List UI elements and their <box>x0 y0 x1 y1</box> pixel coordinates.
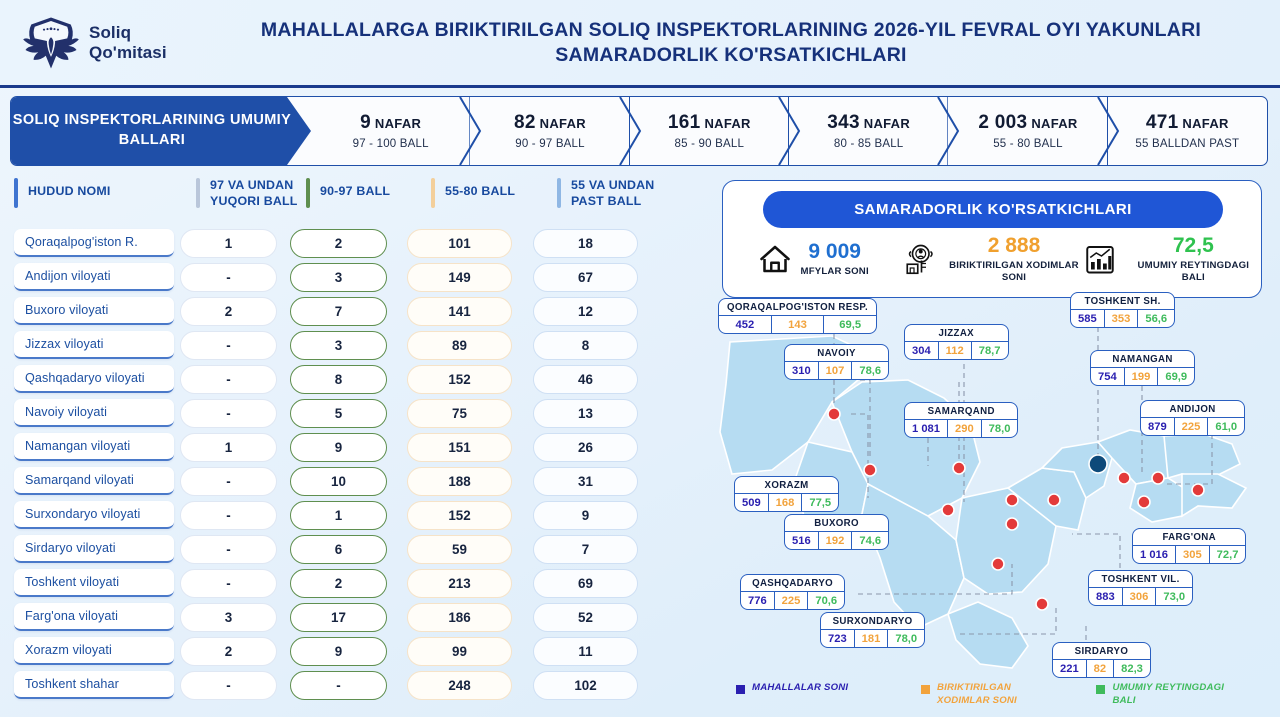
region-name-chip[interactable]: Toshkent viloyati <box>14 569 174 597</box>
page-title: MAHALLALARGA BIRIKTIRILGAN SOLIQ INSPEKT… <box>212 18 1280 68</box>
region-name-chip[interactable]: Farg'ona viloyati <box>14 603 174 631</box>
table-cell-above97: - <box>180 671 277 700</box>
table-cell-b55_80: 248 <box>407 671 512 700</box>
legend-label: MAHALLALAR SONI <box>752 682 848 695</box>
kpi-text: 2 888BIRIKTIRILGAN XODIMLAR SONI <box>946 235 1081 284</box>
inspector-icon <box>902 241 938 277</box>
table-cell-below55: 52 <box>533 603 638 632</box>
map-value-ball: 72,7 <box>1209 546 1246 563</box>
table-row[interactable]: Surxondaryo viloyati-11529 <box>14 498 704 532</box>
table-cell-below55: 13 <box>533 399 638 428</box>
map-value-mahalla: 1 016 <box>1133 546 1175 563</box>
table-cell-above97: 1 <box>180 433 277 462</box>
map-label-name: NAVOIY <box>785 345 888 362</box>
table-cell-below55: 69 <box>533 569 638 598</box>
map-label-toshkent-sh-[interactable]: TOSHKENT SH.58535356,6 <box>1070 292 1175 328</box>
score-segment-4: 2 003 NAFAR55 - 80 BALL <box>948 97 1107 165</box>
column-accent-bar <box>431 178 435 208</box>
region-name-chip[interactable]: Surxondaryo viloyati <box>14 501 174 529</box>
table-cell-below55: 11 <box>533 637 638 666</box>
table-cell-b55_80: 152 <box>407 501 512 530</box>
map-label-values: 50916877,5 <box>735 494 838 511</box>
barchart-icon <box>1082 241 1118 277</box>
map-value-mahalla: 304 <box>905 342 938 359</box>
map-value-ball: 70,6 <box>807 592 844 609</box>
table-row[interactable]: Toshkent shahar--248102 <box>14 668 704 702</box>
table-cell-b55_80: 213 <box>407 569 512 598</box>
map-value-ball: 56,6 <box>1137 310 1174 327</box>
segment-unit: NAFAR <box>375 116 421 131</box>
map-value-ball: 69,5 <box>823 316 876 333</box>
segment-range: 55 BALLDAN PAST <box>1135 138 1239 150</box>
map-value-mahalla: 723 <box>821 630 854 647</box>
table-cell-b90_97: 8 <box>290 365 387 394</box>
column-accent-bar <box>557 178 561 208</box>
table-cell-above97: - <box>180 569 277 598</box>
map-value-mahalla: 754 <box>1091 368 1124 385</box>
map-label-qashqadaryo[interactable]: QASHQADARYO77622570,6 <box>740 574 845 610</box>
map-value-ball: 69,9 <box>1157 368 1194 385</box>
table-cell-b55_80: 101 <box>407 229 512 258</box>
table-cell-below55: 9 <box>533 501 638 530</box>
table-cell-b90_97: 2 <box>290 229 387 258</box>
map-label-values: 51619274,6 <box>785 532 888 549</box>
map-label-name: ANDIJON <box>1141 401 1244 418</box>
map-value-xodim: 82 <box>1086 660 1113 677</box>
uzbekistan-map: QORAQALPOG'ISTON RESP.45214369,5NAVOIY31… <box>712 302 1272 717</box>
segment-count-value: 2 003 <box>978 112 1027 133</box>
column-header-label: 97 VA UNDAN YUQORI BALL <box>210 178 306 209</box>
map-value-xodim: 225 <box>1174 418 1208 435</box>
segment-unit: NAFAR <box>1031 116 1077 131</box>
table-body: Qoraqalpog'iston R.1210118Andijon viloya… <box>14 226 704 702</box>
legend-item-2: UMUMIY REYTINGDAGI BALI <box>1096 682 1272 708</box>
legend-item-1: BIRIKTIRILGAN XODIMLAR SONI <box>921 682 1097 708</box>
map-value-mahalla: 452 <box>719 316 771 333</box>
map-label-andijon[interactable]: ANDIJON87922561,0 <box>1140 400 1245 436</box>
map-label-name: NAMANGAN <box>1091 351 1194 368</box>
brand-logo: Soliq Qo'mitasi <box>22 14 212 72</box>
kpi-value: 2 888 <box>946 235 1081 256</box>
score-bar-segments: 9 NAFAR97 - 100 BALL82 NAFAR90 - 97 BALL… <box>311 97 1267 165</box>
map-value-xodim: 143 <box>771 316 824 333</box>
segment-count-value: 471 <box>1146 112 1179 133</box>
score-segment-2: 161 NAFAR85 - 90 BALL <box>630 97 789 165</box>
table-cell-below55: 26 <box>533 433 638 462</box>
map-label-values: 1 01630572,7 <box>1133 546 1245 563</box>
map-label-jizzax[interactable]: JIZZAX30411278,7 <box>904 324 1009 360</box>
map-value-mahalla: 509 <box>735 494 768 511</box>
map-value-mahalla: 516 <box>785 532 818 549</box>
map-value-xodim: 192 <box>818 532 852 549</box>
map-value-xodim: 181 <box>854 630 888 647</box>
map-value-mahalla: 310 <box>785 362 818 379</box>
kpi-label: BIRIKTIRILGAN XODIMLAR SONI <box>946 260 1081 284</box>
segment-count-value: 161 <box>668 112 701 133</box>
map-label-name: TOSHKENT SH. <box>1071 293 1174 310</box>
column-header-0: HUDUD NOMI <box>14 178 196 208</box>
table-row[interactable]: Toshkent viloyati-221369 <box>14 566 704 600</box>
column-header-2: 90-97 BALL <box>306 178 431 208</box>
table-cell-below55: 8 <box>533 331 638 360</box>
table-cell-above97: - <box>180 399 277 428</box>
kpi-items: 9 009MFYLAR SONI2 888BIRIKTIRILGAN XODIM… <box>723 235 1261 284</box>
table-cell-b55_80: 188 <box>407 467 512 496</box>
table-cell-b55_80: 152 <box>407 365 512 394</box>
map-value-xodim: 107 <box>818 362 852 379</box>
map-value-mahalla: 879 <box>1141 418 1174 435</box>
brand-line-1: Soliq <box>89 23 167 42</box>
map-value-xodim: 225 <box>774 592 808 609</box>
table-cell-b90_97: 3 <box>290 263 387 292</box>
map-value-ball: 77,5 <box>801 494 838 511</box>
segment-unit: NAFAR <box>704 116 750 131</box>
table-cell-b55_80: 75 <box>407 399 512 428</box>
segment-count: 9 NAFAR <box>360 112 421 134</box>
segment-count-value: 82 <box>514 112 536 133</box>
segment-count: 161 NAFAR <box>668 112 751 134</box>
map-label-values: 87922561,0 <box>1141 418 1244 435</box>
map-label-samarqand[interactable]: SAMARQAND1 08129078,0 <box>904 402 1018 438</box>
table-cell-above97: - <box>180 365 277 394</box>
segment-range: 97 - 100 BALL <box>353 138 429 150</box>
map-value-xodim: 353 <box>1104 310 1138 327</box>
map-value-xodim: 305 <box>1175 546 1209 563</box>
segment-count-value: 9 <box>360 112 371 133</box>
map-value-xodim: 199 <box>1124 368 1158 385</box>
segment-unit: NAFAR <box>864 116 910 131</box>
kpi-label: MFYLAR SONI <box>801 266 869 278</box>
region-name-chip[interactable]: Xorazm viloyati <box>14 637 174 665</box>
table-row[interactable]: Xorazm viloyati299911 <box>14 634 704 668</box>
map-legend: MAHALLALAR SONIBIRIKTIRILGAN XODIMLAR SO… <box>724 682 1272 708</box>
kpi-item-1: 2 888BIRIKTIRILGAN XODIMLAR SONI <box>902 235 1081 284</box>
table-cell-b90_97: 1 <box>290 501 387 530</box>
map-label-namangan[interactable]: NAMANGAN75419969,9 <box>1090 350 1195 386</box>
kpi-value: 72,5 <box>1126 235 1261 256</box>
table-cell-above97: - <box>180 535 277 564</box>
kpi-card-title: SAMARADORLIK KO'RSATKICHLARI <box>763 191 1223 228</box>
segment-count: 471 NAFAR <box>1146 112 1229 134</box>
segment-unit: NAFAR <box>1182 116 1228 131</box>
main-content: HUDUD NOMI97 VA UNDAN YUQORI BALL90-97 B… <box>0 172 1280 717</box>
map-label-name: QORAQALPOG'ISTON RESP. <box>719 299 876 316</box>
table-cell-above97: - <box>180 501 277 530</box>
kpi-value: 9 009 <box>801 241 869 262</box>
legend-item-0: MAHALLALAR SONI <box>736 682 921 708</box>
table-cell-below55: 7 <box>533 535 638 564</box>
score-bar-label: SOLIQ INSPEKTORLARINING UMUMIY BALLARI <box>11 97 311 165</box>
map-label-values: 1 08129078,0 <box>905 420 1017 437</box>
map-label-buxoro[interactable]: BUXORO51619274,6 <box>784 514 889 550</box>
segment-count: 343 NAFAR <box>827 112 910 134</box>
table-row[interactable]: Andijon viloyati-314967 <box>14 260 704 294</box>
segment-count: 82 NAFAR <box>514 112 586 134</box>
region-name-chip[interactable]: Navoiy viloyati <box>14 399 174 427</box>
table-cell-b90_97: 9 <box>290 637 387 666</box>
table-cell-below55: 67 <box>533 263 638 292</box>
map-value-ball: 78,6 <box>851 362 888 379</box>
map-label-surxondaryo[interactable]: SURXONDARYO72318178,0 <box>820 612 925 648</box>
house-icon <box>757 241 793 277</box>
map-label-name: JIZZAX <box>905 325 1008 342</box>
table-cell-b90_97: - <box>290 671 387 700</box>
page-title-line-2: SAMARADORLIK KO'RSATKICHLARI <box>212 43 1250 68</box>
table-cell-b90_97: 7 <box>290 297 387 326</box>
column-header-label: HUDUD NOMI <box>28 178 111 200</box>
table-cell-b55_80: 151 <box>407 433 512 462</box>
map-value-mahalla: 883 <box>1089 588 1122 605</box>
table-cell-b90_97: 5 <box>290 399 387 428</box>
table-row[interactable]: Navoiy viloyati-57513 <box>14 396 704 430</box>
legend-swatch <box>921 685 930 694</box>
table-cell-below55: 102 <box>533 671 638 700</box>
kpi-item-0: 9 009MFYLAR SONI <box>723 235 902 284</box>
table-row[interactable]: Samarqand viloyati-1018831 <box>14 464 704 498</box>
segment-count: 2 003 NAFAR <box>978 112 1077 134</box>
table-cell-b55_80: 59 <box>407 535 512 564</box>
map-value-xodim: 112 <box>938 342 971 359</box>
table-cell-below55: 31 <box>533 467 638 496</box>
map-label-name: BUXORO <box>785 515 888 532</box>
column-accent-bar <box>196 178 200 208</box>
table-cell-above97: 3 <box>180 603 277 632</box>
map-value-ball: 78,0 <box>887 630 924 647</box>
table-cell-below55: 12 <box>533 297 638 326</box>
score-segment-3: 343 NAFAR80 - 85 BALL <box>789 97 948 165</box>
map-label-navoiy[interactable]: NAVOIY31010778,6 <box>784 344 889 380</box>
column-header-label: 90-97 BALL <box>320 178 390 200</box>
column-header-4: 55 VA UNDAN PAST BALL <box>557 178 683 209</box>
score-distribution-bar: SOLIQ INSPEKTORLARINING UMUMIY BALLARI 9… <box>10 96 1268 166</box>
page-header: Soliq Qo'mitasi MAHALLALARGA BIRIKTIRILG… <box>0 0 1280 88</box>
score-segment-0: 9 NAFAR97 - 100 BALL <box>311 97 470 165</box>
page-title-line-1: MAHALLALARGA BIRIKTIRILGAN SOLIQ INSPEKT… <box>212 18 1250 43</box>
table-row[interactable]: Qashqadaryo viloyati-815246 <box>14 362 704 396</box>
map-label-values: 30411278,7 <box>905 342 1008 359</box>
region-name-chip[interactable]: Andijon viloyati <box>14 263 174 291</box>
table-row[interactable]: Jizzax viloyati-3898 <box>14 328 704 362</box>
region-name-chip[interactable]: Qoraqalpog'iston R. <box>14 229 174 257</box>
map-label-name: SAMARQAND <box>905 403 1017 420</box>
map-label-values: 31010778,6 <box>785 362 888 379</box>
table-row[interactable]: Farg'ona viloyati31718652 <box>14 600 704 634</box>
region-name-chip[interactable]: Sirdaryo viloyati <box>14 535 174 563</box>
house-icon <box>757 241 793 277</box>
score-segment-1: 82 NAFAR90 - 97 BALL <box>470 97 629 165</box>
kpi-label: UMUMIY REYTINGDAGI BALI <box>1126 260 1261 284</box>
region-name-chip[interactable]: Samarqand viloyati <box>14 467 174 495</box>
segment-range: 90 - 97 BALL <box>515 138 585 150</box>
table-cell-b90_97: 10 <box>290 467 387 496</box>
table-cell-below55: 18 <box>533 229 638 258</box>
region-name-chip[interactable]: Namangan viloyati <box>14 433 174 461</box>
legend-label: UMUMIY REYTINGDAGI BALI <box>1112 682 1232 708</box>
map-label-toshkent-vil-[interactable]: TOSHKENT VIL.88330673,0 <box>1088 570 1193 606</box>
map-label-qoraqalpog-iston-resp-[interactable]: QORAQALPOG'ISTON RESP.45214369,5 <box>718 298 877 334</box>
legend-label: BIRIKTIRILGAN XODIMLAR SONI <box>937 682 1057 708</box>
map-value-ball: 74,6 <box>851 532 888 549</box>
map-label-name: XORAZM <box>735 477 838 494</box>
table-cell-b90_97: 3 <box>290 331 387 360</box>
legend-swatch <box>736 685 745 694</box>
table-header-row: HUDUD NOMI97 VA UNDAN YUQORI BALL90-97 B… <box>14 172 704 226</box>
table-row[interactable]: Qoraqalpog'iston R.1210118 <box>14 226 704 260</box>
kpi-summary-card: SAMARADORLIK KO'RSATKICHLARI 9 009MFYLAR… <box>722 180 1262 298</box>
table-cell-b90_97: 2 <box>290 569 387 598</box>
map-label-values: 72318178,0 <box>821 630 924 647</box>
kpi-text: 72,5UMUMIY REYTINGDAGI BALI <box>1126 235 1261 284</box>
map-label-name: SURXONDARYO <box>821 613 924 630</box>
segment-unit: NAFAR <box>540 116 586 131</box>
table-row[interactable]: Sirdaryo viloyati-6597 <box>14 532 704 566</box>
map-label-values: 45214369,5 <box>719 316 876 333</box>
map-value-xodim: 306 <box>1122 588 1156 605</box>
map-label-sirdaryo[interactable]: SIRDARYO2218282,3 <box>1052 642 1151 678</box>
region-name-chip[interactable]: Toshkent shahar <box>14 671 174 699</box>
map-label-values: 2218282,3 <box>1053 660 1150 677</box>
segment-range: 55 - 80 BALL <box>993 138 1063 150</box>
region-name-chip[interactable]: Qashqadaryo viloyati <box>14 365 174 393</box>
table-cell-above97: 2 <box>180 297 277 326</box>
table-cell-above97: - <box>180 331 277 360</box>
column-header-label: 55-80 BALL <box>445 178 515 200</box>
table-cell-above97: 1 <box>180 229 277 258</box>
table-cell-b55_80: 141 <box>407 297 512 326</box>
map-value-mahalla: 585 <box>1071 310 1104 327</box>
map-value-mahalla: 221 <box>1053 660 1086 677</box>
kpi-text: 9 009MFYLAR SONI <box>801 241 869 278</box>
table-cell-above97: 2 <box>180 637 277 666</box>
map-value-mahalla: 776 <box>741 592 774 609</box>
region-name-chip[interactable]: Buxoro viloyati <box>14 297 174 325</box>
table-cell-b55_80: 89 <box>407 331 512 360</box>
table-cell-b90_97: 6 <box>290 535 387 564</box>
map-value-ball: 82,3 <box>1113 660 1150 677</box>
legend-swatch <box>1096 685 1105 694</box>
map-value-mahalla: 1 081 <box>905 420 947 437</box>
map-value-ball: 78,0 <box>981 420 1018 437</box>
segment-range: 80 - 85 BALL <box>834 138 904 150</box>
table-cell-b90_97: 17 <box>290 603 387 632</box>
table-cell-below55: 46 <box>533 365 638 394</box>
column-header-1: 97 VA UNDAN YUQORI BALL <box>196 178 306 209</box>
soliq-qomitasi-emblem-icon <box>22 14 80 72</box>
column-header-3: 55-80 BALL <box>431 178 557 208</box>
capital-pin <box>1089 455 1107 473</box>
map-label-values: 75419969,9 <box>1091 368 1194 385</box>
regions-table: HUDUD NOMI97 VA UNDAN YUQORI BALL90-97 B… <box>14 172 704 702</box>
brand-name: Soliq Qo'mitasi <box>89 23 167 61</box>
table-row[interactable]: Buxoro viloyati2714112 <box>14 294 704 328</box>
inspector-icon <box>902 241 938 277</box>
map-label-name: QASHQADARYO <box>741 575 844 592</box>
map-label-name: TOSHKENT VIL. <box>1089 571 1192 588</box>
table-cell-b55_80: 149 <box>407 263 512 292</box>
kpi-item-2: 72,5UMUMIY REYTINGDAGI BALI <box>1082 235 1261 284</box>
segment-range: 85 - 90 BALL <box>675 138 745 150</box>
map-value-ball: 73,0 <box>1155 588 1192 605</box>
map-value-ball: 61,0 <box>1207 418 1244 435</box>
region-name-chip[interactable]: Jizzax viloyati <box>14 331 174 359</box>
map-label-farg-ona[interactable]: FARG'ONA1 01630572,7 <box>1132 528 1246 564</box>
table-cell-above97: - <box>180 467 277 496</box>
table-cell-b55_80: 99 <box>407 637 512 666</box>
map-label-values: 58535356,6 <box>1071 310 1174 327</box>
column-accent-bar <box>306 178 310 208</box>
map-value-xodim: 168 <box>768 494 802 511</box>
table-cell-b55_80: 186 <box>407 603 512 632</box>
map-label-values: 88330673,0 <box>1089 588 1192 605</box>
score-segment-5: 471 NAFAR55 BALLDAN PAST <box>1108 97 1267 165</box>
barchart-icon <box>1082 241 1118 277</box>
column-accent-bar <box>14 178 18 208</box>
map-value-xodim: 290 <box>947 420 981 437</box>
map-label-name: FARG'ONA <box>1133 529 1245 546</box>
table-row[interactable]: Namangan viloyati1915126 <box>14 430 704 464</box>
map-value-ball: 78,7 <box>971 342 1008 359</box>
map-label-values: 77622570,6 <box>741 592 844 609</box>
table-cell-b90_97: 9 <box>290 433 387 462</box>
column-header-label: 55 VA UNDAN PAST BALL <box>571 178 683 209</box>
table-cell-above97: - <box>180 263 277 292</box>
map-label-name: SIRDARYO <box>1053 643 1150 660</box>
brand-line-2: Qo'mitasi <box>89 43 167 62</box>
map-label-xorazm[interactable]: XORAZM50916877,5 <box>734 476 839 512</box>
segment-count-value: 343 <box>827 112 860 133</box>
